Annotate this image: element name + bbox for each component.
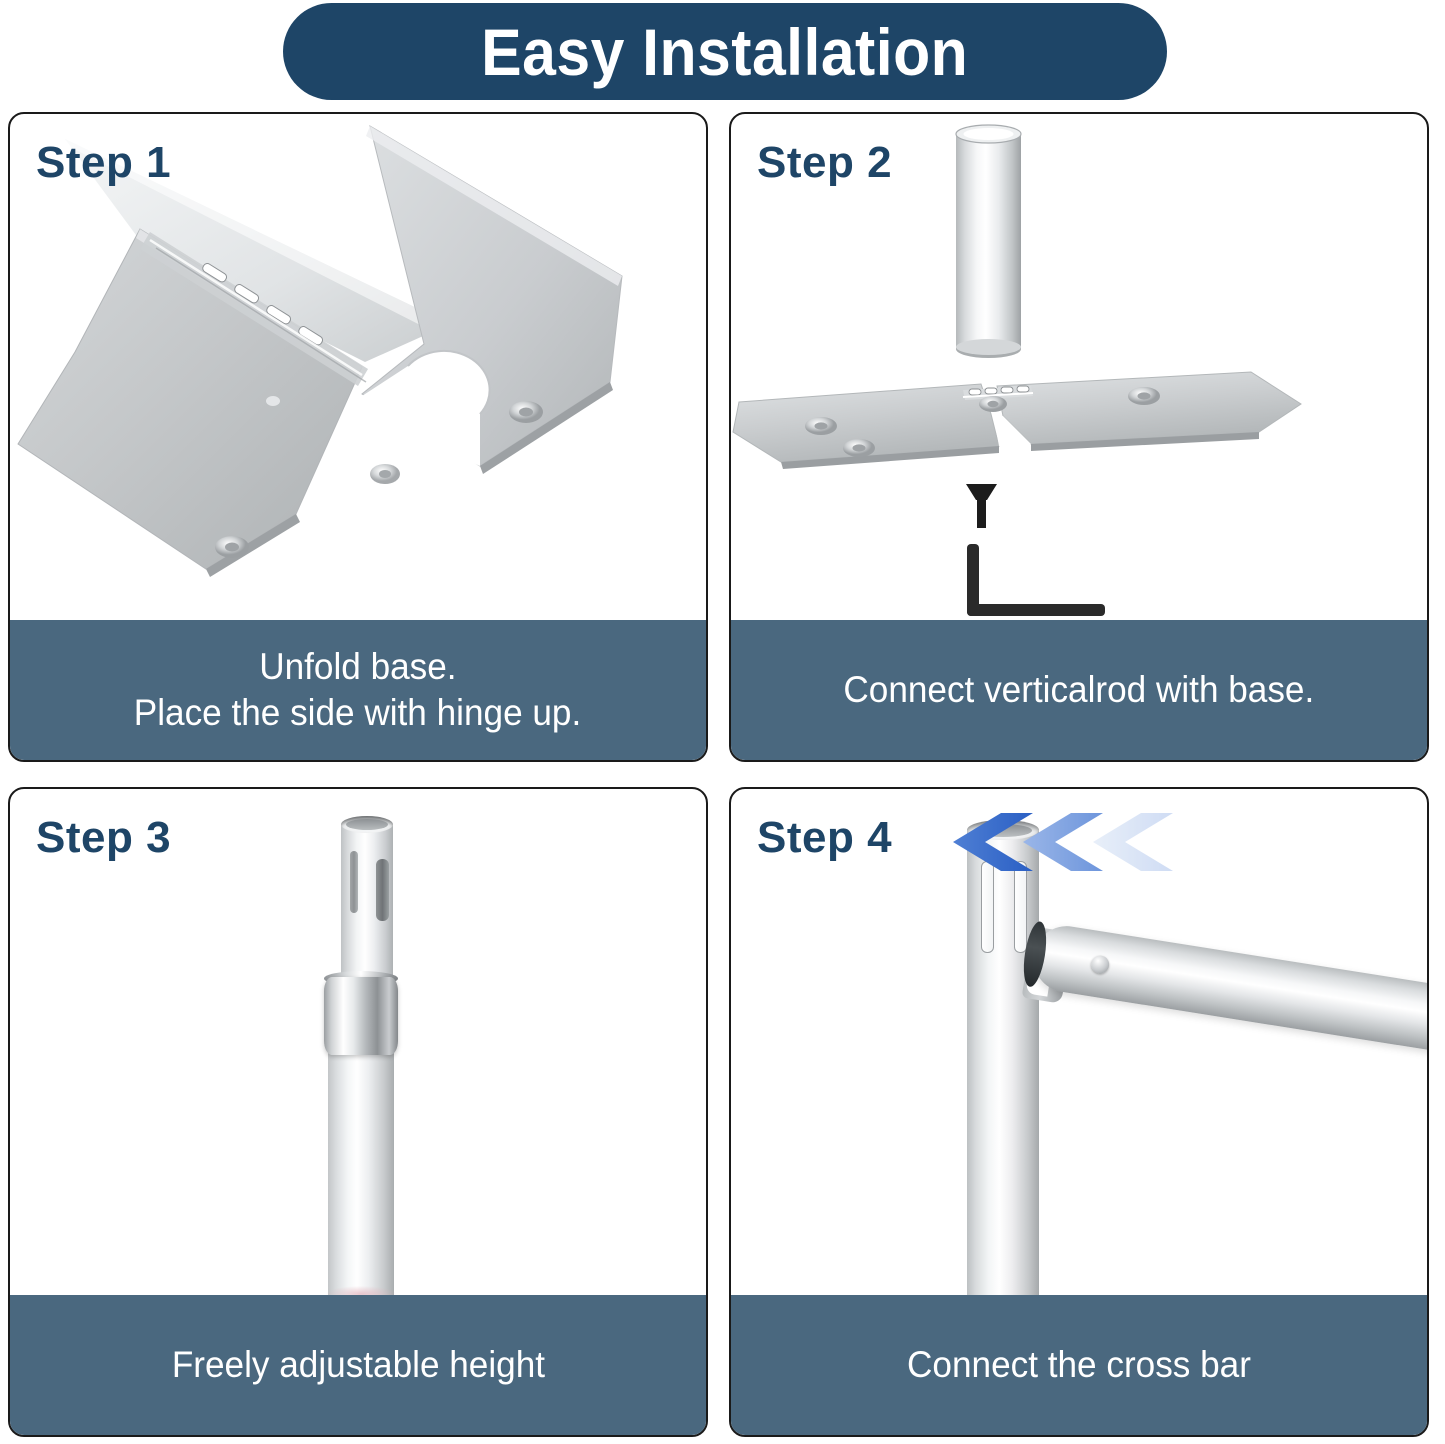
cross-bar-screw bbox=[1090, 954, 1111, 975]
step-1-caption-line-2: Place the side with hinge up. bbox=[134, 690, 581, 736]
pole-mounting-slot-left bbox=[981, 861, 994, 953]
direction-arrows bbox=[943, 811, 1173, 873]
step-panel-2: Step 2 Connect verticalrod with base. bbox=[729, 112, 1429, 762]
step-4-caption: Connect the cross bar bbox=[731, 1295, 1427, 1435]
pole-top-bore bbox=[346, 819, 388, 830]
step-panel-3: Step 3 Freely adjustable height bbox=[8, 787, 708, 1437]
step-3-caption-line-1: Freely adjustable height bbox=[171, 1342, 544, 1388]
locking-collar[interactable] bbox=[324, 977, 398, 1055]
step-2-illustration-stage bbox=[731, 114, 1427, 620]
page-title: Easy Installation bbox=[481, 19, 968, 85]
hex-key-icon bbox=[967, 544, 1105, 616]
step-panel-4: Step 4 Connect the cross bar bbox=[729, 787, 1429, 1437]
step-2-label: Step 2 bbox=[757, 138, 892, 188]
countersunk-screw-icon bbox=[966, 484, 997, 528]
pole-base-reflection bbox=[326, 1286, 396, 1295]
step-1-label: Step 1 bbox=[36, 138, 171, 188]
step-1-illustration-stage bbox=[10, 114, 706, 620]
step-3-caption: Freely adjustable height bbox=[10, 1295, 706, 1435]
step-2-caption: Connect verticalrod with base. bbox=[731, 620, 1427, 760]
base-notch bbox=[362, 351, 490, 466]
header-banner: Easy Installation bbox=[283, 3, 1167, 100]
step-4-illustration-stage bbox=[731, 789, 1427, 1295]
step-3-illustration-stage bbox=[10, 789, 706, 1295]
step-1-caption: Unfold base. Place the side with hinge u… bbox=[10, 620, 706, 760]
step-panel-1: Step 1 Unfold base. Place the side with … bbox=[8, 112, 708, 762]
chevron-left-icon-3 bbox=[1093, 813, 1173, 871]
step-2-caption-line-1: Connect verticalrod with base. bbox=[844, 667, 1315, 713]
rod-and-base-assembly-illustration bbox=[731, 114, 1427, 620]
vertical-pole bbox=[967, 829, 1039, 1295]
chevron-left-icon-2 bbox=[1023, 813, 1103, 871]
step-3-label: Step 3 bbox=[36, 813, 171, 863]
step-4-label: Step 4 bbox=[757, 813, 892, 863]
pole-adjustment-slot-left bbox=[350, 851, 358, 913]
pole-adjustment-slot-right bbox=[376, 859, 389, 921]
step-4-caption-line-1: Connect the cross bar bbox=[907, 1342, 1251, 1388]
cross-bar bbox=[1029, 921, 1427, 1052]
chevron-left-icon-1 bbox=[953, 813, 1033, 871]
folding-base-plate-illustration bbox=[10, 114, 706, 620]
pole-mounting-slot-right bbox=[1014, 861, 1027, 953]
infographic-page: Easy Installation bbox=[0, 0, 1445, 1444]
step-1-caption-line-1: Unfold base. bbox=[259, 644, 456, 690]
vertical-rod bbox=[956, 134, 1021, 349]
